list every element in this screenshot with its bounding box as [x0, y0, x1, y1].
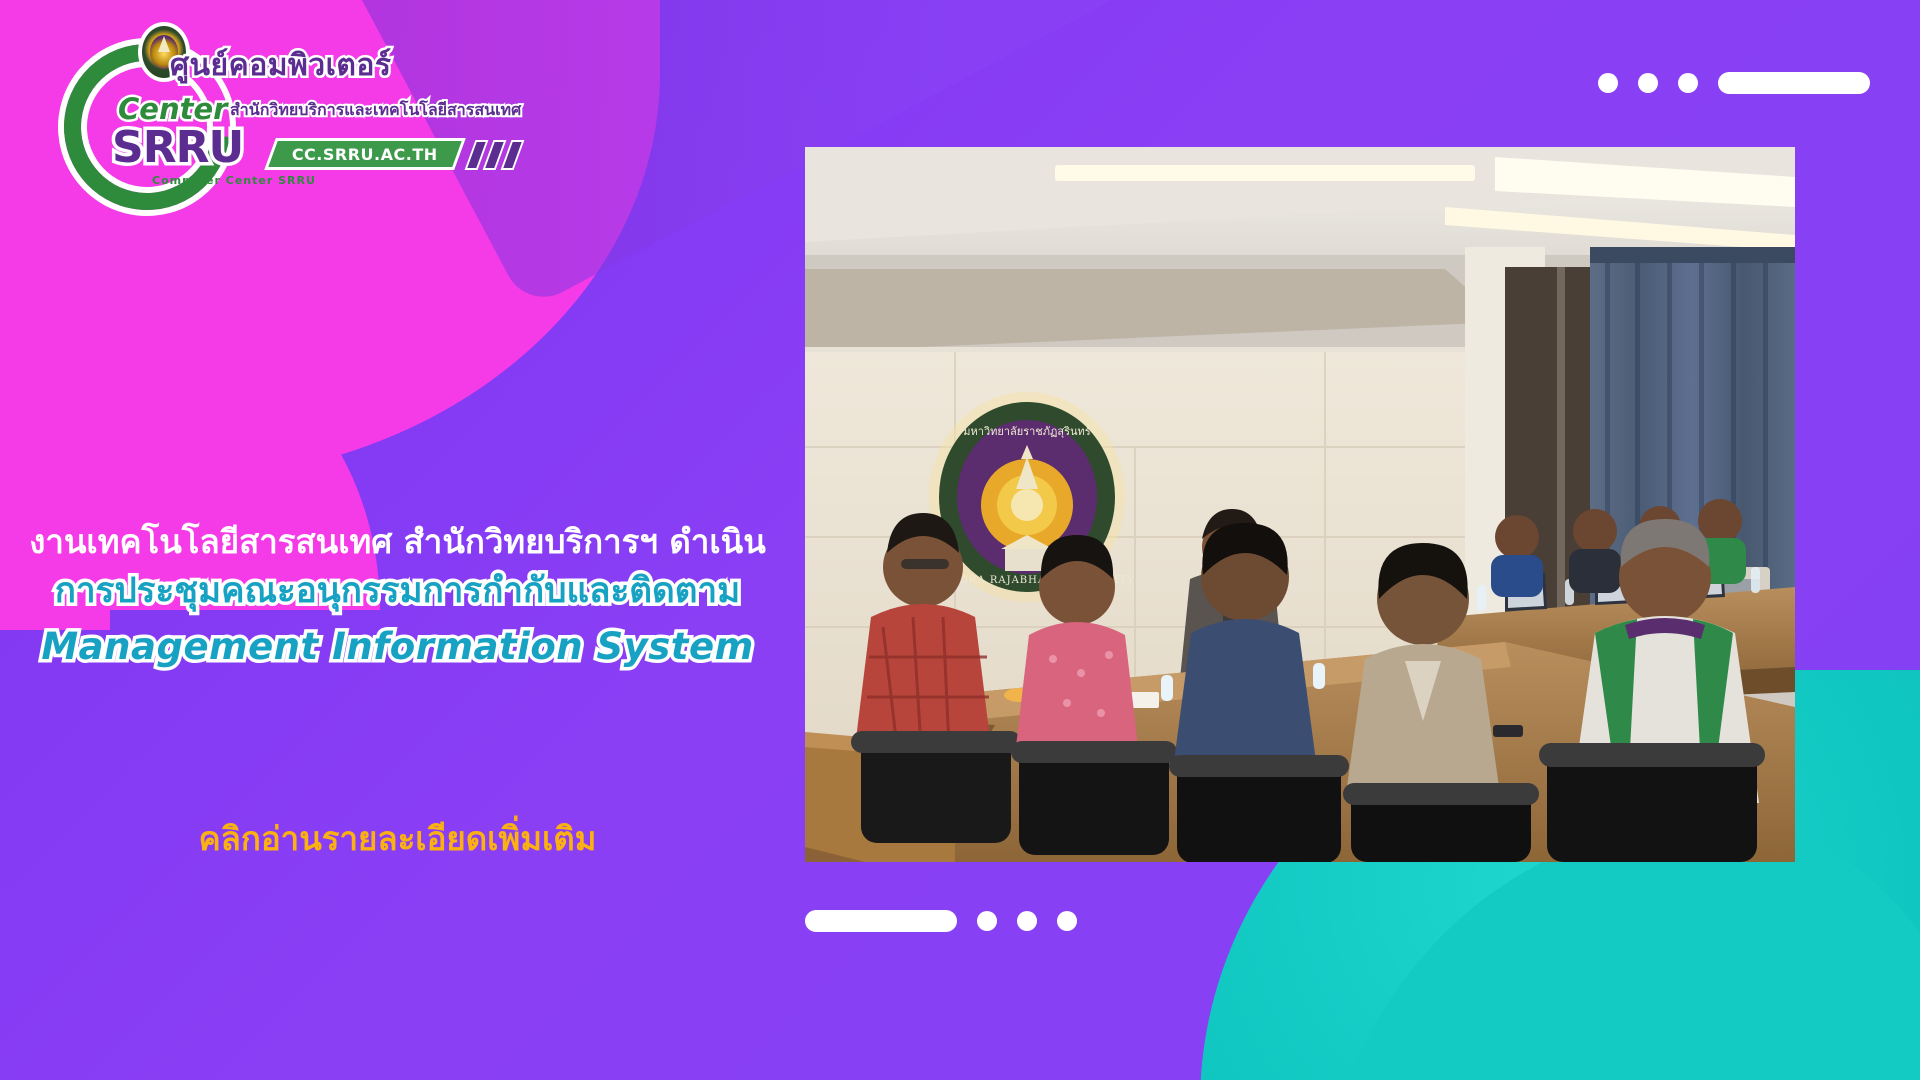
logo-thai-subtitle: สำนักวิทยบริการและเทคโนโลยีสารสนเทศ: [230, 98, 521, 123]
pagination-active-pill[interactable]: [1718, 72, 1870, 94]
headline-line-2: การประชุมคณะอนุกรรมการกำกับและติดตาม: [0, 565, 795, 618]
pagination-dot[interactable]: [1638, 73, 1658, 93]
banner-slide: ศูนย์คอมพิวเตอร์ Center สำนักวิทยบริการแ…: [0, 0, 1920, 1080]
svg-text:มหาวิทยาลัยราชภัฏสุรินทร์: มหาวิทยาลัยราชภัฏสุรินทร์: [963, 425, 1090, 438]
website-url-badge[interactable]: CC.SRRU.AC.TH: [264, 138, 466, 170]
website-url-label: CC.SRRU.AC.TH: [292, 145, 438, 164]
headline-block: งานเทคโนโลยีสารสนเทศ สำนักวิทยบริการฯ ดำ…: [0, 520, 795, 676]
meeting-room-photo[interactable]: มหาวิทยาลัยราชภัฏสุรินทร์ SURINDRA RAJAB…: [805, 147, 1795, 862]
logo-lockup[interactable]: ศูนย์คอมพิวเตอร์ Center สำนักวิทยบริการแ…: [30, 14, 510, 164]
photo-illustration: มหาวิทยาลัยราชภัฏสุรินทร์ SURINDRA RAJAB…: [805, 147, 1795, 862]
pagination-bottom[interactable]: [805, 910, 1077, 932]
pagination-dot[interactable]: [1598, 73, 1618, 93]
pagination-dot[interactable]: [1678, 73, 1698, 93]
logo-thai-title: ศูนย์คอมพิวเตอร์: [170, 42, 391, 89]
logo-acronym: SRRU: [112, 122, 243, 173]
logo-tagline: Computer Center SRRU: [152, 174, 316, 187]
pagination-active-pill[interactable]: [805, 910, 957, 932]
pagination-dot[interactable]: [977, 911, 997, 931]
headline-line-1: งานเทคโนโลยีสารสนเทศ สำนักวิทยบริการฯ ดำ…: [0, 520, 795, 565]
pagination-top[interactable]: [1598, 72, 1870, 94]
read-more-link[interactable]: คลิกอ่านรายละเอียดเพิ่มเติม: [0, 812, 795, 865]
headline-line-3: Management Information System: [0, 617, 795, 676]
logo-center-word: Center: [118, 92, 227, 126]
pagination-dot[interactable]: [1017, 911, 1037, 931]
pagination-dot[interactable]: [1057, 911, 1077, 931]
